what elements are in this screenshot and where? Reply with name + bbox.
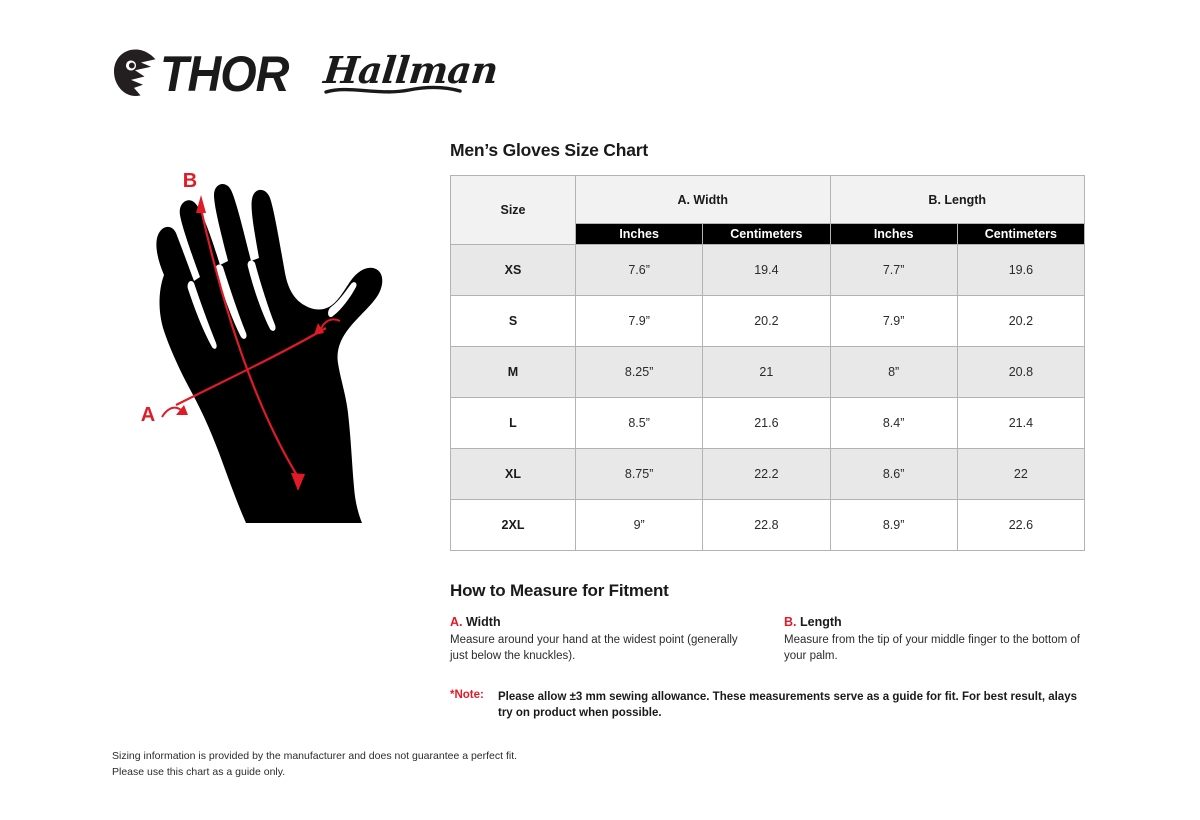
cell-width-inches: 8.75”	[576, 449, 703, 500]
footer-line-2: Please use this chart as a guide only.	[112, 764, 517, 780]
hand-silhouette-icon	[156, 184, 382, 523]
thor-logo: THOR	[112, 48, 284, 98]
column-header-width-centimeters: Centimeters	[703, 224, 830, 245]
measure-item-name: Length	[800, 615, 842, 629]
hallman-logo: Hallman	[324, 52, 498, 97]
cell-length-centimeters: 21.4	[957, 398, 1084, 449]
measure-item-name: Width	[466, 615, 501, 629]
column-group-length: B. Length	[830, 176, 1085, 224]
table-row: L 8.5” 21.6 8.4” 21.4	[451, 398, 1085, 449]
table-header-groups: Size A. Width B. Length	[451, 176, 1085, 224]
cell-length-inches: 8.6”	[830, 449, 957, 500]
cell-width-centimeters: 22.8	[703, 500, 830, 551]
measure-item-letter: B.	[784, 615, 797, 629]
note-label: *Note:	[450, 689, 498, 722]
width-label: A	[141, 404, 155, 426]
cell-size: 2XL	[451, 500, 576, 551]
cell-width-inches: 8.5”	[576, 398, 703, 449]
measure-item-width: A. Width Measure around your hand at the…	[450, 615, 746, 665]
size-chart-table: Size A. Width B. Length Inches Centimete…	[450, 175, 1085, 551]
column-header-width-inches: Inches	[576, 224, 703, 245]
measure-item-description: Measure from the tip of your middle fing…	[784, 632, 1080, 665]
cell-size: S	[451, 296, 576, 347]
column-header-length-centimeters: Centimeters	[957, 224, 1084, 245]
cell-width-centimeters: 22.2	[703, 449, 830, 500]
hand-measurement-diagram: B A	[118, 165, 428, 545]
table-row: M 8.25” 21 8” 20.8	[451, 347, 1085, 398]
thor-helmet-icon	[112, 48, 158, 98]
measure-section-title: How to Measure for Fitment	[450, 581, 1090, 601]
measure-item-heading: B. Length	[784, 615, 1080, 629]
cell-length-inches: 7.7”	[830, 245, 957, 296]
measure-columns: A. Width Measure around your hand at the…	[450, 615, 1090, 665]
cell-size: L	[451, 398, 576, 449]
cell-length-inches: 8.9”	[830, 500, 957, 551]
footer-line-1: Sizing information is provided by the ma…	[112, 748, 517, 764]
column-group-width: A. Width	[576, 176, 831, 224]
table-row: S 7.9” 20.2 7.9” 20.2	[451, 296, 1085, 347]
cell-length-centimeters: 22	[957, 449, 1084, 500]
table-row: XS 7.6” 19.4 7.7” 19.6	[451, 245, 1085, 296]
cell-width-centimeters: 21	[703, 347, 830, 398]
measure-item-description: Measure around your hand at the widest p…	[450, 632, 746, 665]
table-row: 2XL 9” 22.8 8.9” 22.6	[451, 500, 1085, 551]
column-header-size: Size	[451, 176, 576, 245]
footer-disclaimer: Sizing information is provided by the ma…	[112, 748, 517, 781]
cell-width-inches: 8.25”	[576, 347, 703, 398]
table-row: XL 8.75” 22.2 8.6” 22	[451, 449, 1085, 500]
cell-length-centimeters: 20.2	[957, 296, 1084, 347]
note-block: *Note: Please allow ±3 mm sewing allowan…	[450, 689, 1090, 722]
chart-content: Men’s Gloves Size Chart Size A. Width B.…	[450, 140, 1090, 722]
measure-item-letter: A.	[450, 615, 463, 629]
thor-wordmark: THOR	[160, 48, 288, 98]
page-title: Men’s Gloves Size Chart	[450, 140, 1090, 161]
hallman-wordmark: Hallman	[322, 52, 499, 89]
brand-logo-bar: THOR Hallman	[112, 48, 497, 98]
cell-width-centimeters: 21.6	[703, 398, 830, 449]
cell-length-centimeters: 19.6	[957, 245, 1084, 296]
measure-item-length: B. Length Measure from the tip of your m…	[784, 615, 1080, 665]
cell-length-centimeters: 20.8	[957, 347, 1084, 398]
cell-length-centimeters: 22.6	[957, 500, 1084, 551]
measure-item-heading: A. Width	[450, 615, 746, 629]
cell-length-inches: 7.9”	[830, 296, 957, 347]
note-text: Please allow ±3 mm sewing allowance. The…	[498, 689, 1088, 722]
cell-width-inches: 7.6”	[576, 245, 703, 296]
cell-width-centimeters: 19.4	[703, 245, 830, 296]
cell-size: XS	[451, 245, 576, 296]
cell-length-inches: 8”	[830, 347, 957, 398]
cell-width-inches: 9”	[576, 500, 703, 551]
column-header-length-inches: Inches	[830, 224, 957, 245]
cell-width-inches: 7.9”	[576, 296, 703, 347]
cell-length-inches: 8.4”	[830, 398, 957, 449]
cell-size: M	[451, 347, 576, 398]
cell-size: XL	[451, 449, 576, 500]
length-label: B	[183, 170, 197, 192]
cell-width-centimeters: 20.2	[703, 296, 830, 347]
